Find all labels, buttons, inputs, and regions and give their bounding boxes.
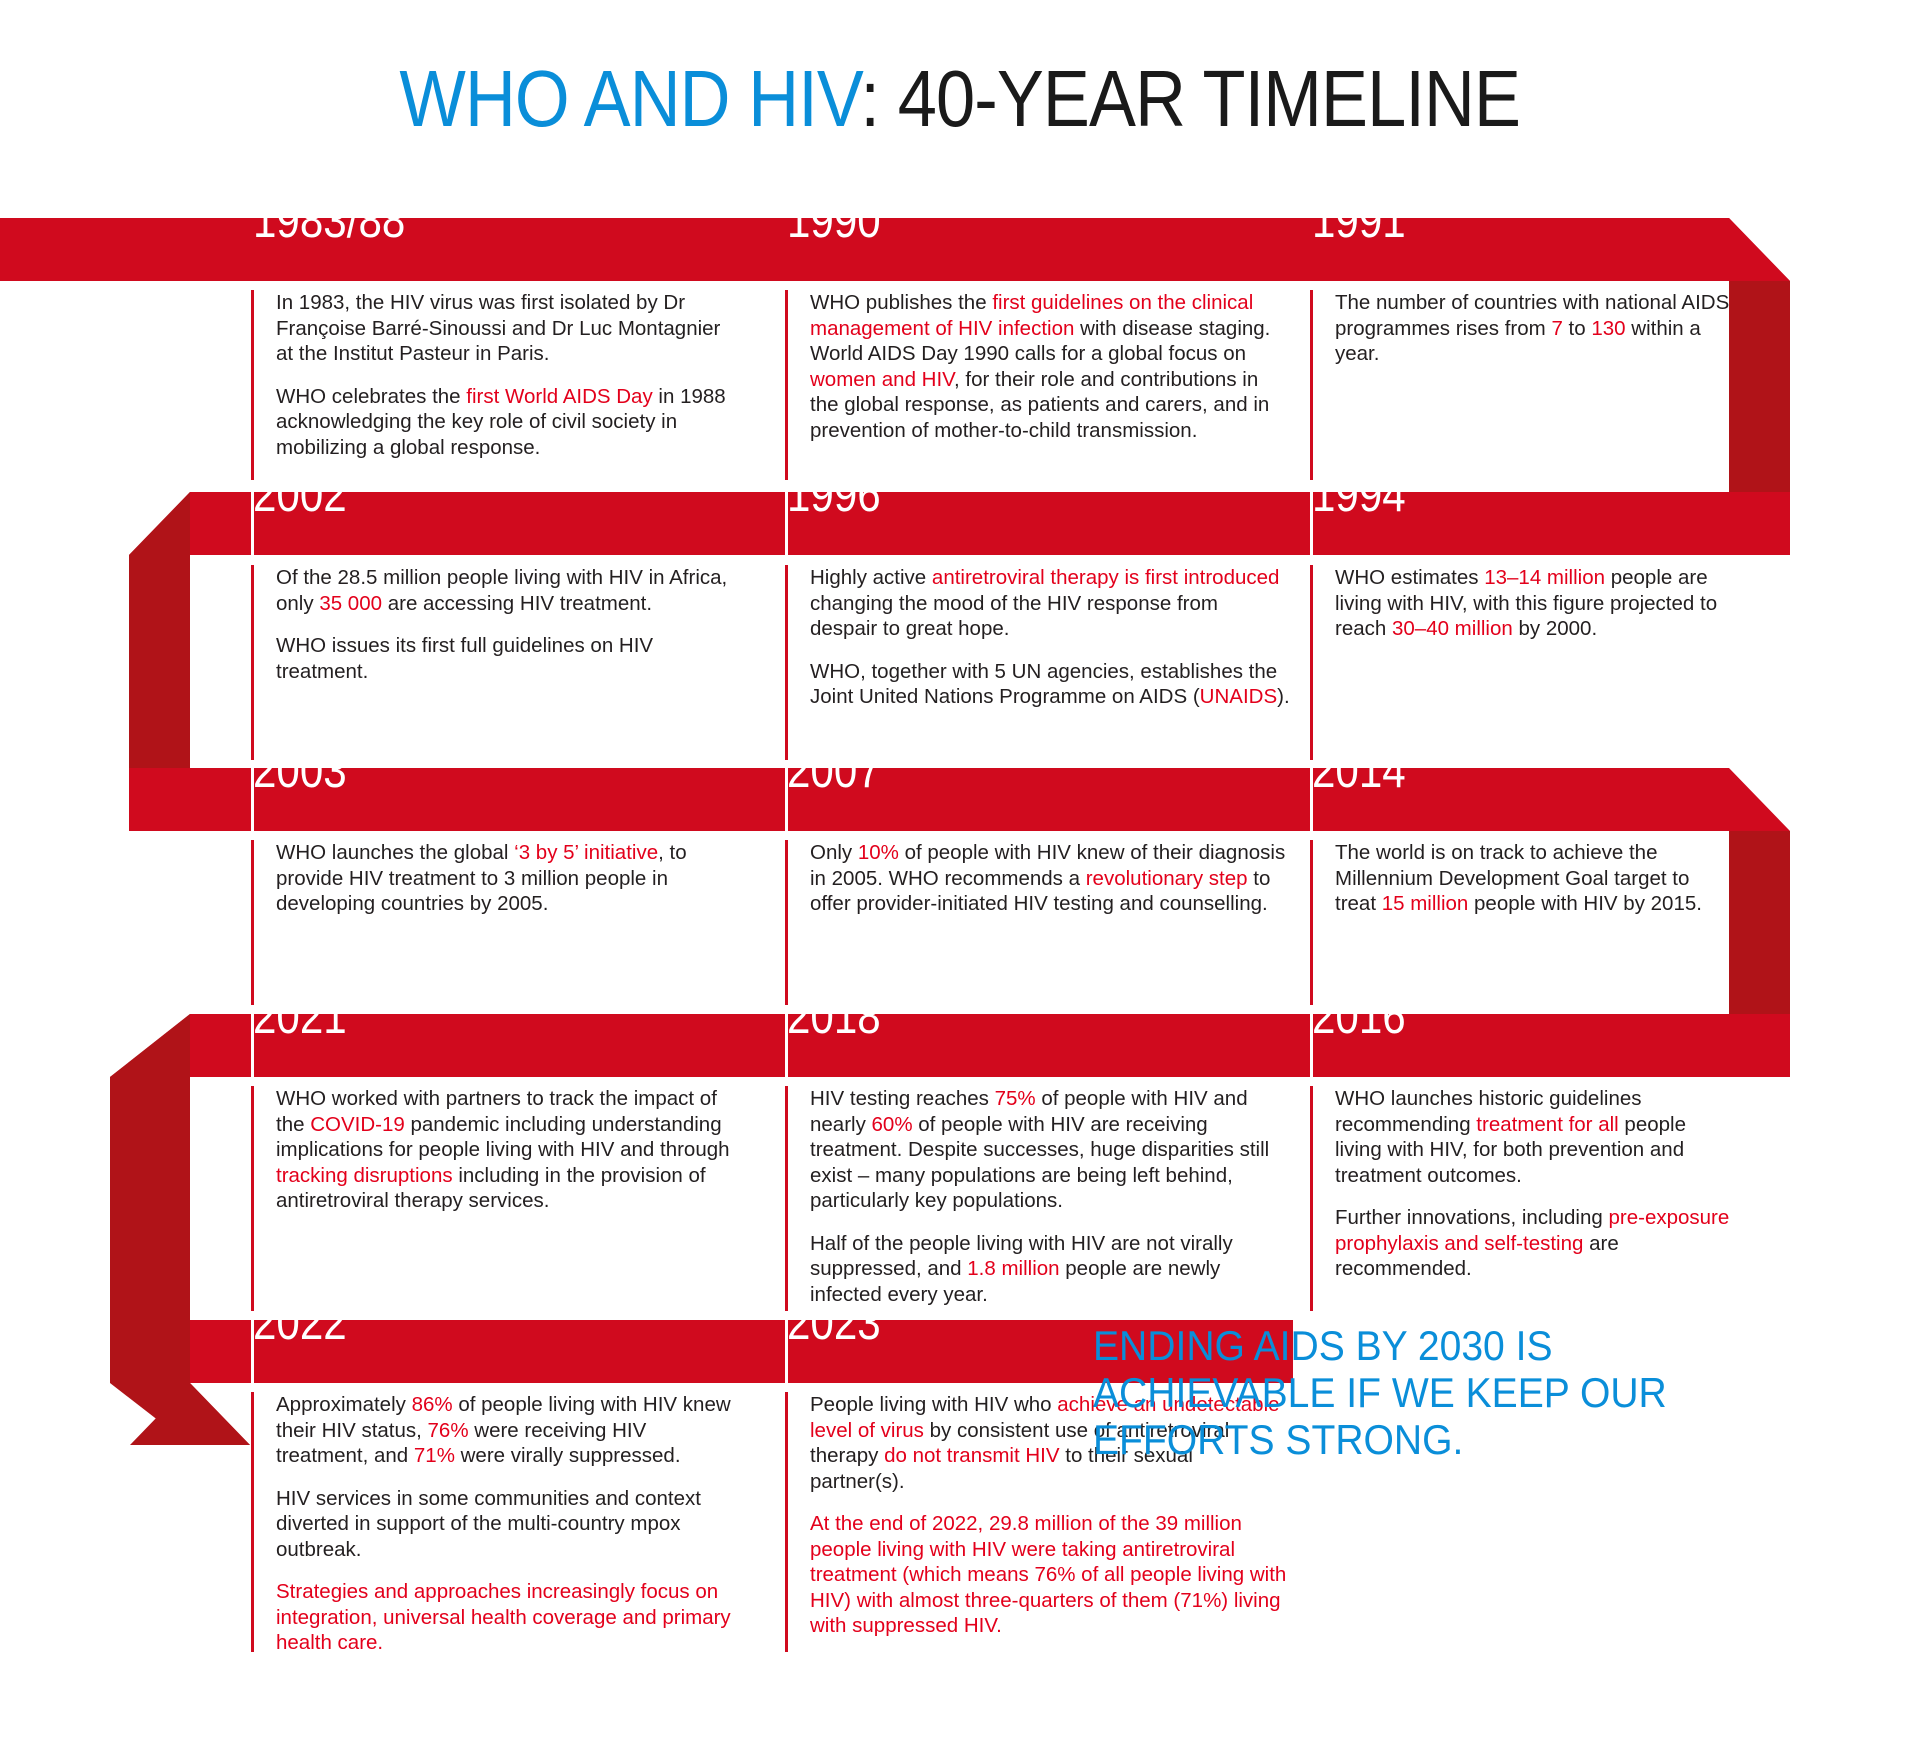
highlighted-text: do not transmit HIV xyxy=(884,1444,1059,1467)
cell-paragraph: In 1983, the HIV virus was first isolate… xyxy=(276,290,741,367)
row3-header-band xyxy=(129,768,1790,831)
highlighted-text: 60% xyxy=(872,1113,913,1136)
cell-paragraph: Only 10% of people with HIV knew of thei… xyxy=(810,840,1290,917)
year-label-1983-88: 1983/88 xyxy=(253,194,405,249)
body-text: Highly active xyxy=(810,566,932,589)
cell-2007: Only 10% of people with HIV knew of thei… xyxy=(785,840,1290,1005)
body-text: WHO celebrates the xyxy=(276,385,466,408)
body-text: people with HIV by 2015. xyxy=(1468,892,1702,915)
cell-paragraph: Half of the people living with HIV are n… xyxy=(810,1231,1290,1308)
highlighted-text: Strategies and approaches increasingly f… xyxy=(276,1580,731,1654)
highlighted-text: revolutionary step xyxy=(1086,867,1248,890)
cell-1996: Highly active antiretroviral therapy is … xyxy=(785,565,1290,760)
cell-2022: Approximately 86% of people living with … xyxy=(251,1392,741,1652)
highlighted-text: 86% xyxy=(412,1393,453,1416)
divider-row2-col2-head xyxy=(785,492,788,555)
body-text: ). xyxy=(1277,685,1290,708)
highlighted-text: women and HIV xyxy=(810,368,954,391)
highlighted-text: 15 million xyxy=(1382,892,1469,915)
body-text: People living with HIV who xyxy=(810,1393,1057,1416)
divider-row4-col1-head xyxy=(251,1014,254,1077)
cell-2002: Of the 28.5 million people living with H… xyxy=(251,565,741,760)
highlighted-text: treatment for all xyxy=(1476,1113,1618,1136)
body-text: Approximately xyxy=(276,1393,412,1416)
cell-paragraph: WHO worked with partners to track the im… xyxy=(276,1086,741,1214)
divider-row4-col3-head xyxy=(1310,1014,1313,1077)
year-label-2014: 2014 xyxy=(1312,744,1406,799)
body-text: Further innovations, including xyxy=(1335,1206,1609,1229)
year-label-1991: 1991 xyxy=(1312,194,1406,249)
body-text: HIV services in some communities and con… xyxy=(276,1487,701,1561)
divider-row3-col3-head xyxy=(1310,768,1313,831)
cell-1990: WHO publishes the first guidelines on th… xyxy=(785,290,1290,480)
cell-paragraph: Approximately 86% of people living with … xyxy=(276,1392,741,1469)
highlighted-text: 35 000 xyxy=(319,592,382,615)
year-label-2002: 2002 xyxy=(253,468,347,523)
highlighted-text: At the end of 2022, 29.8 million of the … xyxy=(810,1512,1286,1637)
body-text: were virally suppressed. xyxy=(455,1444,681,1467)
year-label-2018: 2018 xyxy=(787,990,881,1045)
divider-row2-col3-head xyxy=(1310,492,1313,555)
cell-2021: WHO worked with partners to track the im… xyxy=(251,1086,741,1311)
cell-2018: HIV testing reaches 75% of people with H… xyxy=(785,1086,1290,1311)
body-text: HIV testing reaches xyxy=(810,1087,995,1110)
divider-row1-col3-head xyxy=(1310,218,1313,281)
row2-header-band-main xyxy=(190,492,1790,555)
cell-paragraph: Highly active antiretroviral therapy is … xyxy=(810,565,1290,642)
row2-left-connector xyxy=(129,555,190,792)
highlighted-text: 75% xyxy=(995,1087,1036,1110)
cell-paragraph: At the end of 2022, 29.8 million of the … xyxy=(810,1511,1290,1639)
row4-left-connector-top-chamfer xyxy=(110,1014,190,1077)
divider-row3-col1-head xyxy=(251,768,254,831)
year-label-2007: 2007 xyxy=(787,744,881,799)
cell-paragraph: WHO launches historic guidelines recomme… xyxy=(1335,1086,1730,1188)
body-text: to xyxy=(1563,317,1592,340)
divider-row5-col1-head xyxy=(251,1320,254,1383)
body-text: by 2000. xyxy=(1513,617,1597,640)
cell-2016: WHO launches historic guidelines recomme… xyxy=(1310,1086,1730,1311)
highlighted-text: first World AIDS Day xyxy=(466,385,652,408)
cell-paragraph: WHO estimates 13–14 million people are l… xyxy=(1335,565,1730,642)
year-label-2023: 2023 xyxy=(787,1296,881,1351)
row1-right-connector-chamfer xyxy=(1729,218,1790,281)
year-label-2016: 2016 xyxy=(1312,990,1406,1045)
body-text: changing the mood of the HIV response fr… xyxy=(810,592,1218,641)
year-label-2021: 2021 xyxy=(253,990,347,1045)
body-text: WHO launches the global xyxy=(276,841,514,864)
cell-paragraph: The world is on track to achieve the Mil… xyxy=(1335,840,1730,917)
highlighted-text: 7 xyxy=(1551,317,1562,340)
divider-row4-col2-head xyxy=(785,1014,788,1077)
highlighted-text: UNAIDS xyxy=(1200,685,1277,708)
year-label-2003: 2003 xyxy=(253,744,347,799)
cell-paragraph: HIV services in some communities and con… xyxy=(276,1486,741,1563)
highlighted-text: 71% xyxy=(414,1444,455,1467)
cell-paragraph: WHO celebrates the first World AIDS Day … xyxy=(276,384,741,461)
cell-paragraph: WHO, together with 5 UN agencies, establ… xyxy=(810,659,1290,710)
year-label-1996: 1996 xyxy=(787,468,881,523)
closing-slogan: ENDING AIDS BY 2030 IS ACHIEVABLE IF WE … xyxy=(1093,1322,1670,1463)
highlighted-text: 10% xyxy=(858,841,899,864)
year-label-1994: 1994 xyxy=(1312,468,1406,523)
cell-paragraph: HIV testing reaches 75% of people with H… xyxy=(810,1086,1290,1214)
divider-row2-col1-head xyxy=(251,492,254,555)
cell-2014: The world is on track to achieve the Mil… xyxy=(1310,840,1730,1005)
body-text: are accessing HIV treatment. xyxy=(382,592,652,615)
body-text: WHO issues its first full guidelines on … xyxy=(276,634,653,683)
row5-left-chamfer xyxy=(110,1320,190,1383)
highlighted-text: tracking disruptions xyxy=(276,1164,453,1187)
highlighted-text: 1.8 million xyxy=(967,1257,1059,1280)
year-label-2022: 2022 xyxy=(253,1296,347,1351)
cell-paragraph: Further innovations, including pre-expos… xyxy=(1335,1205,1730,1282)
highlighted-text: ‘3 by 5’ initiative xyxy=(514,841,658,864)
body-text: In 1983, the HIV virus was first isolate… xyxy=(276,291,720,365)
highlighted-text: 30–40 million xyxy=(1392,617,1513,640)
divider-row5-col2-head xyxy=(785,1320,788,1383)
cell-1994: WHO estimates 13–14 million people are l… xyxy=(1310,565,1730,760)
year-label-1990: 1990 xyxy=(787,194,881,249)
cell-1991: The number of countries with national AI… xyxy=(1310,290,1730,480)
row4-left-connector-tail xyxy=(110,1077,190,1320)
highlighted-text: 130 xyxy=(1591,317,1625,340)
divider-row1-col1-head xyxy=(251,218,254,281)
divider-row3-col2-head xyxy=(785,768,788,831)
body-text: Only xyxy=(810,841,858,864)
row1-right-connector xyxy=(1729,281,1790,522)
divider-row1-col2-head xyxy=(785,218,788,281)
row4-header-band xyxy=(190,1014,1790,1077)
cell-paragraph: WHO issues its first full guidelines on … xyxy=(276,633,741,684)
highlighted-text: antiretroviral therapy is first introduc… xyxy=(932,566,1280,589)
cell-paragraph: Of the 28.5 million people living with H… xyxy=(276,565,741,616)
cell-paragraph: Strategies and approaches increasingly f… xyxy=(276,1579,741,1656)
cell-paragraph: WHO publishes the first guidelines on th… xyxy=(810,290,1290,443)
highlighted-text: COVID-19 xyxy=(310,1113,405,1136)
highlighted-text: 13–14 million xyxy=(1484,566,1605,589)
timeline: 1983/88 1990 1991 In 1983, the HIV virus… xyxy=(0,0,1920,1750)
cell-1983-88: In 1983, the HIV virus was first isolate… xyxy=(251,290,741,480)
body-text: WHO estimates xyxy=(1335,566,1484,589)
cell-paragraph: The number of countries with national AI… xyxy=(1335,290,1730,367)
cell-paragraph: WHO launches the global ‘3 by 5’ initiat… xyxy=(276,840,741,917)
row2-left-chamfer-dark xyxy=(129,492,190,555)
cell-2003: WHO launches the global ‘3 by 5’ initiat… xyxy=(251,840,741,1005)
highlighted-text: 76% xyxy=(428,1419,469,1442)
body-text: WHO publishes the xyxy=(810,291,992,314)
